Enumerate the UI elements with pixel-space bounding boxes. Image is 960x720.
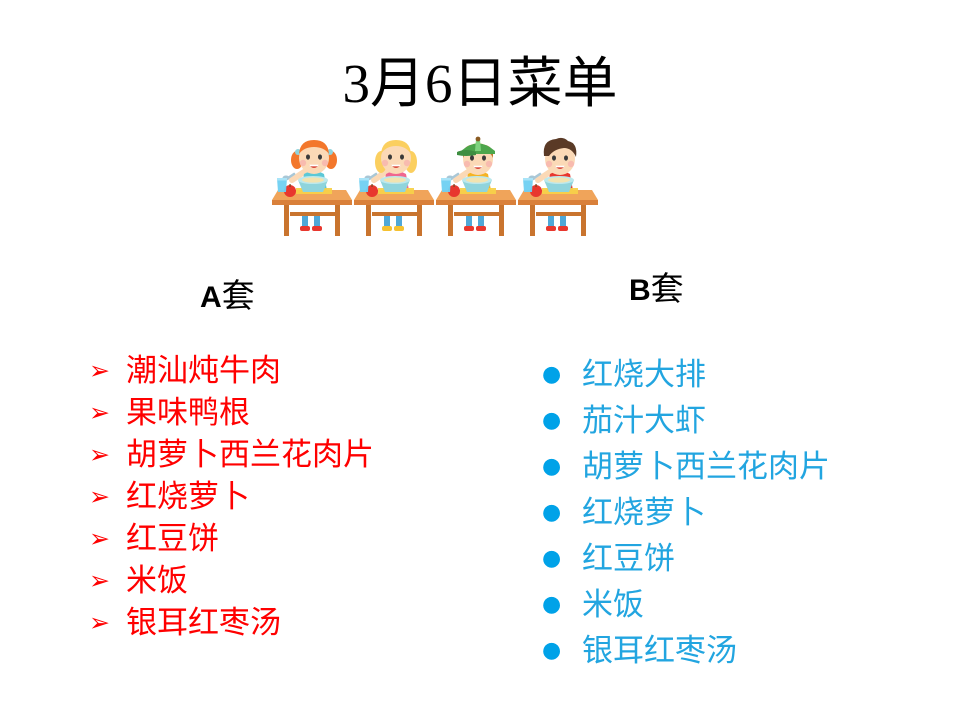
list-item: ● 茄汁大虾: [538, 398, 830, 444]
dot-bullet-icon: ●: [542, 444, 561, 490]
list-item: ➢ 果味鸭根: [88, 392, 374, 434]
arrow-bullet-icon: ➢: [89, 392, 110, 434]
menu-item-label: 茄汁大虾: [582, 398, 706, 444]
list-item: ➢ 红烧萝卜: [88, 476, 374, 518]
list-item: ● 红烧大排: [538, 352, 830, 398]
menu-item-label: 果味鸭根: [126, 392, 250, 434]
children-eating-illustration: [272, 134, 602, 256]
dot-bullet-icon: ●: [542, 628, 561, 674]
menu-item-label: 银耳红枣汤: [582, 628, 737, 674]
menu-item-label: 红烧萝卜: [126, 476, 250, 518]
list-item: ● 红豆饼: [538, 536, 830, 582]
arrow-bullet-icon: ➢: [89, 602, 110, 644]
set-b-heading-latin: B: [629, 274, 651, 307]
page-title: 3月6日菜单: [0, 52, 960, 116]
arrow-bullet-icon: ➢: [89, 560, 110, 602]
list-item: ➢ 银耳红枣汤: [88, 602, 374, 644]
set-a-menu-list: ➢ 潮汕炖牛肉 ➢ 果味鸭根 ➢ 胡萝卜西兰花肉片 ➢ 红烧萝卜 ➢ 红豆饼 ➢…: [88, 350, 374, 644]
menu-item-label: 米饭: [582, 582, 644, 628]
list-item: ➢ 米饭: [88, 560, 374, 602]
set-a-heading: A套: [200, 279, 255, 316]
menu-item-label: 胡萝卜西兰花肉片: [582, 444, 830, 490]
menu-item-label: 米饭: [126, 560, 188, 602]
list-item: ➢ 胡萝卜西兰花肉片: [88, 434, 374, 476]
arrow-bullet-icon: ➢: [89, 476, 110, 518]
list-item: ➢ 红豆饼: [88, 518, 374, 560]
dot-bullet-icon: ●: [542, 398, 561, 444]
menu-slide: 3月6日菜单: [0, 0, 960, 720]
menu-item-label: 红烧大排: [582, 352, 706, 398]
set-b-menu-list: ● 红烧大排 ● 茄汁大虾 ● 胡萝卜西兰花肉片 ● 红烧萝卜 ● 红豆饼 ● …: [538, 352, 830, 674]
list-item: ● 米饭: [538, 582, 830, 628]
list-item: ● 胡萝卜西兰花肉片: [538, 444, 830, 490]
list-item: ➢ 潮汕炖牛肉: [88, 350, 374, 392]
set-b-heading: B套: [629, 272, 684, 309]
dot-bullet-icon: ●: [542, 582, 561, 628]
list-item: ● 银耳红枣汤: [538, 628, 830, 674]
set-b-heading-cjk: 套: [651, 272, 684, 308]
arrow-bullet-icon: ➢: [89, 518, 110, 560]
menu-item-label: 红豆饼: [582, 536, 675, 582]
set-a-heading-cjk: 套: [222, 279, 255, 315]
set-a-heading-latin: A: [200, 281, 222, 314]
menu-item-label: 银耳红枣汤: [126, 602, 281, 644]
arrow-bullet-icon: ➢: [89, 350, 110, 392]
menu-item-label: 红烧萝卜: [582, 490, 706, 536]
menu-item-label: 胡萝卜西兰花肉片: [126, 434, 374, 476]
list-item: ● 红烧萝卜: [538, 490, 830, 536]
dot-bullet-icon: ●: [542, 536, 561, 582]
arrow-bullet-icon: ➢: [89, 434, 110, 476]
dot-bullet-icon: ●: [542, 352, 561, 398]
menu-item-label: 潮汕炖牛肉: [126, 350, 281, 392]
menu-item-label: 红豆饼: [126, 518, 219, 560]
dot-bullet-icon: ●: [542, 490, 561, 536]
